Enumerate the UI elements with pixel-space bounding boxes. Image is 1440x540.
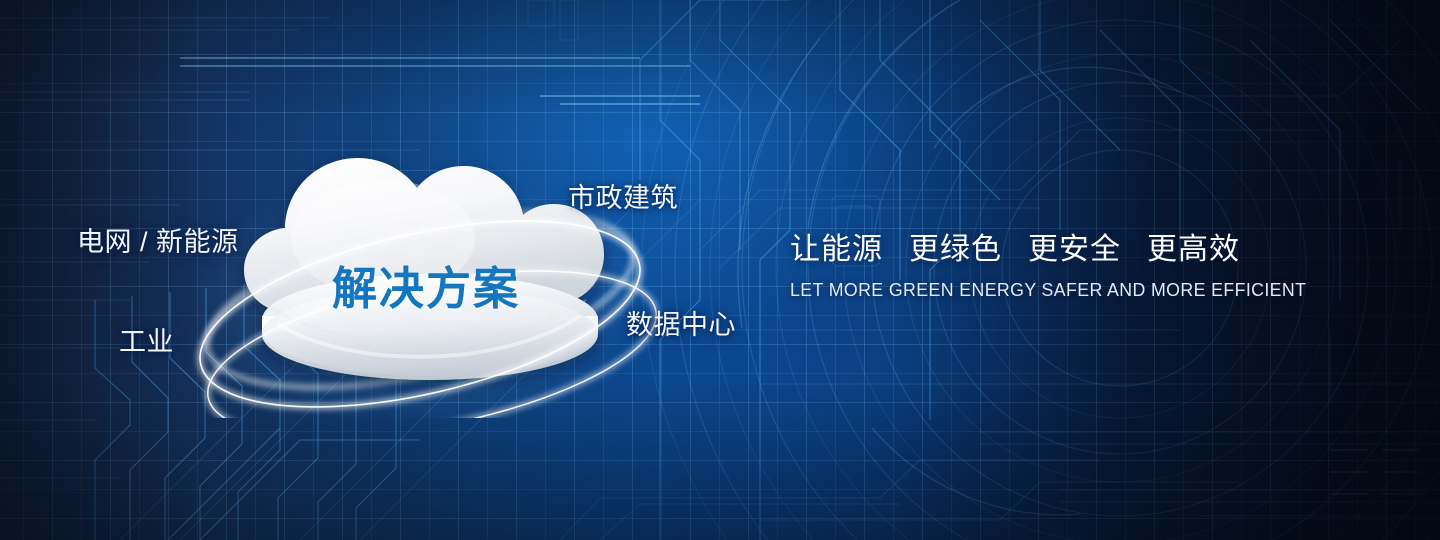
slogan-block: 让能源更绿色更安全更高效 LET MORE GREEN ENERGY SAFER…: [790, 224, 1330, 301]
cloud-title: 解决方案: [332, 252, 520, 317]
slogan-part-2: 更绿色: [909, 224, 1002, 268]
label-municipal-building: 市政建筑: [568, 176, 678, 215]
label-industry: 工业: [119, 320, 174, 359]
label-grid-new-energy: 电网 / 新能源: [77, 220, 239, 259]
slogan-part-3: 更安全: [1028, 224, 1121, 268]
slogan-part-4: 更高效: [1147, 224, 1240, 268]
slogan-part-1: 让能源: [790, 224, 883, 268]
label-data-center: 数据中心: [626, 303, 736, 342]
slogan-subtitle: LET MORE GREEN ENERGY SAFER AND MORE EFF…: [790, 279, 1308, 301]
solution-banner: 解决方案 电网 / 新能源 工业 市政建筑 数据中心 让能源更绿色更安全更高效 …: [0, 0, 1440, 540]
slogan-main: 让能源更绿色更安全更高效: [790, 224, 1330, 268]
